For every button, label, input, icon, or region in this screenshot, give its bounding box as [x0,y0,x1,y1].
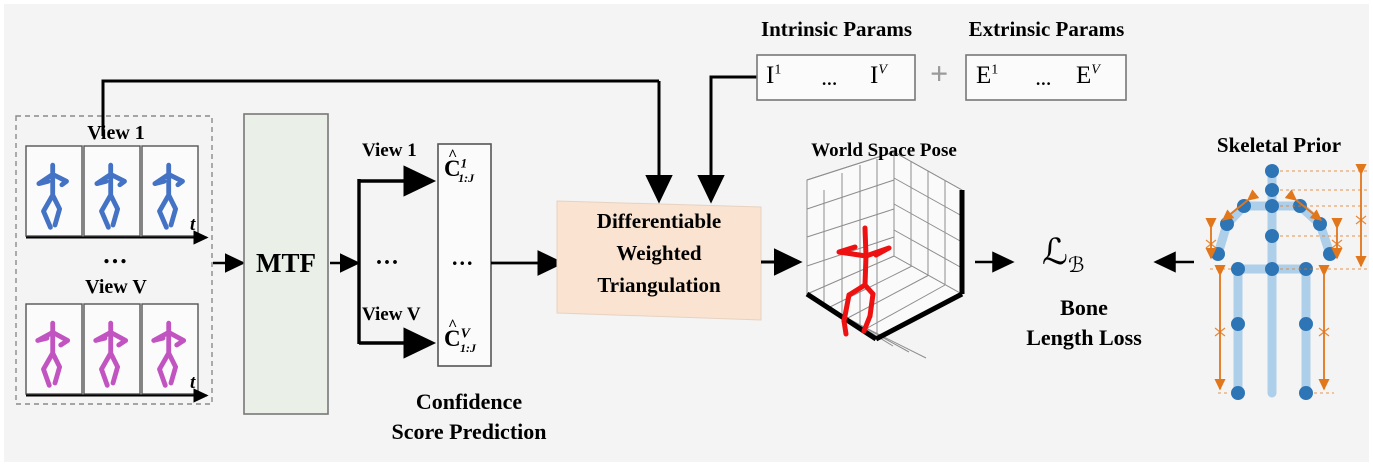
branch-view-last-label: View V [362,304,421,325]
loss-caption-line2: Length Loss [984,326,1184,351]
feedback-loop-wire [103,81,659,136]
time-axis-label-view-last: t [190,372,195,393]
loss-caption-line1: Bone [1004,296,1164,321]
input-ellipsis: ... [76,240,156,269]
extrinsic-last-base: E [1076,62,1091,89]
intrinsic-first-symbol: I1 [766,62,781,90]
mtf-label: MTF [244,114,328,414]
extrinsic-first-symbol: E1 [976,62,998,90]
loss-symbol-sub: ℬ [1068,253,1085,277]
input-view-first-label: View 1 [56,122,176,144]
extrinsic-ellipsis: ... [1036,70,1052,89]
diagram-vector-layer [4,4,1373,466]
view-last-frames [26,304,198,394]
intrinsic-params-wire [711,77,757,200]
skeletal-prior-title: Skeletal Prior [1184,134,1373,158]
intrinsic-last-sup: V [878,63,887,78]
extrinsic-first-base: E [976,62,991,89]
bone-length-loss-symbol: ℒℬ [1042,232,1084,278]
branch-ellipsis: ... [376,244,400,271]
extrinsic-last-symbol: EV [1076,62,1100,90]
extrinsic-params-title: Extrinsic Params [939,18,1154,42]
world-space-pose-grid [807,152,962,358]
confidence-symbol-top: ^ C11:J [444,156,474,185]
intrinsic-ellipsis: ... [822,70,838,89]
input-view-last-text: View V [85,276,147,298]
confidence-ellipsis: ... [452,246,475,271]
intrinsic-last-symbol: IV [870,62,887,90]
confidence-symbol-bottom: ^ CV1:J [444,326,476,355]
intrinsic-first-sup: 1 [774,63,781,78]
intrinsic-params-title: Intrinsic Params [729,18,944,42]
branch-view-first-label: View 1 [362,140,417,161]
world-space-pose-title: World Space Pose [774,140,994,161]
skeletal-prior-figure [1206,164,1369,400]
confidence-bottom-sub: 1:J [460,341,476,355]
triangulation-line3: Triangulation [560,274,758,298]
branch-view-last-text: View V [362,304,421,325]
extrinsic-last-sup: V [1091,63,1100,78]
figure-canvas: View 1 ... View V t t MTF View 1 ... Vie… [0,0,1373,466]
time-axis-label-view-first: t [190,214,195,235]
view-first-frames [26,146,198,236]
confidence-caption-line2: Score Prediction [359,420,579,445]
triangulation-line1: Differentiable [560,210,758,234]
extrinsic-first-sup: 1 [991,63,998,78]
confidence-bottom-sup: V [461,326,470,341]
triangulation-line2: Weighted [560,242,758,266]
confidence-caption-line1: Confidence [374,390,564,415]
loss-symbol-main: ℒ [1042,232,1068,273]
confidence-top-sup: 1 [461,155,468,170]
input-view-last-label: View V [56,276,176,298]
params-plus-sign: + [930,56,948,92]
